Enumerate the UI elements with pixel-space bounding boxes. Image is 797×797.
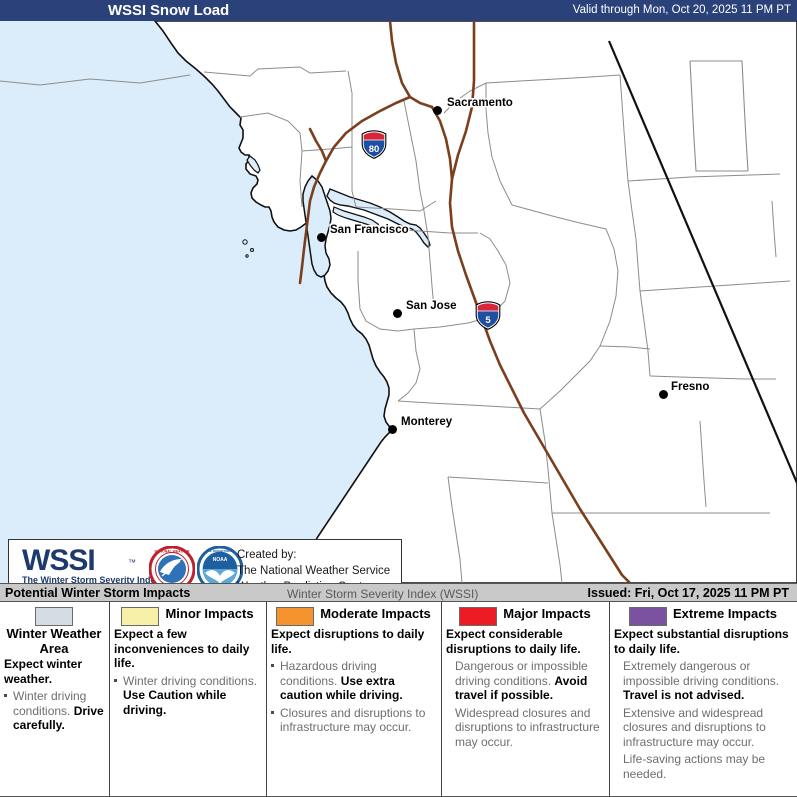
legend-title-major-impacts: Major Impacts bbox=[503, 606, 590, 621]
valid-through-text: Valid through Mon, Oct 20, 2025 11 PM PT bbox=[573, 4, 791, 16]
legend-header bbox=[4, 606, 104, 626]
created-by-block: Created by: The National Weather Service… bbox=[237, 547, 390, 583]
legend-bullets-winter-weather-area: Winter driving conditions. Drive careful… bbox=[4, 689, 104, 733]
legend-lead-winter-weather-area: Expect winter weather. bbox=[4, 657, 104, 686]
created-by-line-2: The National Weather Service bbox=[237, 563, 390, 579]
bullet-dot-icon bbox=[271, 711, 274, 714]
city-label-monterey: Monterey bbox=[401, 416, 452, 428]
wssi-wordmark: WSSI bbox=[22, 544, 95, 578]
nws-seal-icon: NATIONAL WEATHER SERVICE bbox=[149, 546, 195, 583]
legend-lead-major-impacts: Expect considerable disruptions to daily… bbox=[446, 627, 604, 656]
legend-header: Extreme Impacts bbox=[614, 606, 792, 626]
bullet-plain: Widespread closures and disruptions to i… bbox=[455, 706, 600, 749]
legend-bullet: Dangerous or impossible driving conditio… bbox=[446, 659, 604, 703]
legend-header: Moderate Impacts bbox=[271, 606, 436, 626]
svg-text:U.S. DEPARTMENT: U.S. DEPARTMENT bbox=[206, 549, 233, 553]
svg-text:NOAA: NOAA bbox=[213, 557, 228, 563]
index-name-label: Winter Storm Severity Index (WSSI) bbox=[287, 587, 478, 601]
legend-lead-minor-impacts: Expect a few inconveniences to daily lif… bbox=[114, 627, 261, 671]
legend-column-minor-impacts[interactable]: Minor Impacts Expect a few inconvenience… bbox=[110, 602, 267, 796]
wssi-tagline: The Winter Storm Severity Index bbox=[22, 575, 160, 583]
city-dot-fresno bbox=[659, 390, 668, 399]
legend-title-extreme-impacts: Extreme Impacts bbox=[673, 606, 777, 621]
legend-header: Major Impacts bbox=[446, 606, 604, 626]
bullet-dot-icon bbox=[4, 694, 7, 697]
bullet-dot-icon bbox=[114, 679, 117, 682]
svg-text:NATIONAL WEATHER: NATIONAL WEATHER bbox=[154, 550, 190, 554]
legend-header: Minor Impacts bbox=[114, 606, 261, 626]
potential-impacts-title: Potential Winter Storm Impacts bbox=[5, 586, 190, 600]
legend-column-winter-weather-area[interactable]: Winter Weather Area Expect winter weathe… bbox=[0, 602, 110, 796]
interstate-5-shield: 5 bbox=[475, 301, 501, 330]
farallon-island-tiny bbox=[246, 255, 248, 257]
legend-bullet: Closures and disruptions to infrastructu… bbox=[271, 706, 436, 735]
farallon-island-small bbox=[251, 249, 254, 252]
shield-5-number: 5 bbox=[485, 315, 491, 326]
bullet-bold: Use Caution while driving. bbox=[123, 688, 226, 717]
bullet-plain: Winter driving conditions. bbox=[123, 674, 257, 688]
bullet-plain: Closures and disruptions to infrastructu… bbox=[280, 706, 425, 735]
impact-legend: Winter Weather Area Expect winter weathe… bbox=[0, 602, 797, 797]
legend-title-minor-impacts: Minor Impacts bbox=[165, 606, 253, 621]
map-vector-layer bbox=[0, 21, 797, 583]
city-label-san-francisco: San Francisco bbox=[330, 224, 409, 236]
bullet-plain: Extremely dangerous or impossible drivin… bbox=[623, 659, 779, 688]
interstate-80-shield: 80 bbox=[361, 130, 387, 159]
wssi-logo-box: WSSI ™ The Winter Storm Severity Index N bbox=[8, 539, 402, 583]
swatch-major-impacts bbox=[459, 607, 497, 626]
swatch-minor-impacts bbox=[121, 607, 159, 626]
created-by-line-3: Weather Prediction Center bbox=[237, 579, 390, 583]
legend-bullets-extreme-impacts: Extremely dangerous or impossible drivin… bbox=[614, 659, 792, 781]
shield-80-number: 80 bbox=[369, 144, 380, 155]
city-label-san-jose: San Jose bbox=[406, 300, 457, 312]
bullet-plain: Life-saving actions may be needed. bbox=[623, 752, 765, 781]
legend-column-extreme-impacts[interactable]: Extreme Impacts Expect substantial disru… bbox=[610, 602, 797, 796]
city-label-fresno: Fresno bbox=[671, 381, 709, 393]
legend-bullet: Hazardous driving conditions. Use extra … bbox=[271, 659, 436, 703]
legend-title-moderate-impacts: Moderate Impacts bbox=[320, 606, 431, 621]
city-label-sacramento: Sacramento bbox=[447, 97, 513, 109]
city-dot-san-jose bbox=[393, 309, 402, 318]
issued-status-bar: Potential Winter Storm Impacts Winter St… bbox=[0, 583, 797, 602]
app-header: WSSI Snow Load Valid through Mon, Oct 20… bbox=[0, 0, 797, 21]
bullet-bold: Travel is not advised. bbox=[623, 688, 744, 702]
legend-bullet: Extensive and widespread closures and di… bbox=[614, 706, 792, 750]
legend-lead-moderate-impacts: Expect disruptions to daily life. bbox=[271, 627, 436, 656]
farallon-island bbox=[243, 240, 247, 244]
bullet-dot-icon bbox=[271, 664, 274, 667]
legend-column-major-impacts[interactable]: Major Impacts Expect considerable disrup… bbox=[442, 602, 610, 796]
legend-bullets-minor-impacts: Winter driving conditions. Use Caution w… bbox=[114, 674, 261, 718]
swatch-winter-weather-area bbox=[35, 607, 73, 626]
city-dot-monterey bbox=[388, 425, 397, 434]
legend-column-moderate-impacts[interactable]: Moderate Impacts Expect disruptions to d… bbox=[267, 602, 442, 796]
legend-bullet: Winter driving conditions. Use Caution w… bbox=[114, 674, 261, 718]
legend-title-winter-weather-area: Winter Weather Area bbox=[4, 626, 104, 656]
city-dot-sacramento bbox=[433, 106, 442, 115]
legend-bullet: Winter driving conditions. Drive careful… bbox=[4, 689, 104, 733]
legend-bullets-moderate-impacts: Hazardous driving conditions. Use extra … bbox=[271, 659, 436, 735]
issued-timestamp: Issued: Fri, Oct 17, 2025 11 PM PT bbox=[588, 586, 789, 600]
swatch-extreme-impacts bbox=[629, 607, 667, 626]
bullet-plain: Extensive and widespread closures and di… bbox=[623, 706, 766, 749]
legend-bullet: Extremely dangerous or impossible drivin… bbox=[614, 659, 792, 703]
created-by-line-1: Created by: bbox=[237, 547, 390, 563]
legend-bullet: Widespread closures and disruptions to i… bbox=[446, 706, 604, 750]
city-dot-san-francisco bbox=[317, 233, 326, 242]
legend-bullet: Life-saving actions may be needed. bbox=[614, 752, 792, 781]
legend-bullets-major-impacts: Dangerous or impossible driving conditio… bbox=[446, 659, 604, 749]
wssi-snow-load-page: WSSI Snow Load Valid through Mon, Oct 20… bbox=[0, 0, 797, 797]
page-title: WSSI Snow Load bbox=[108, 2, 229, 19]
map-canvas[interactable]: Sacramento San Francisco San Jose Monter… bbox=[0, 21, 797, 583]
legend-lead-extreme-impacts: Expect substantial disruptions to daily … bbox=[614, 627, 792, 656]
trademark-symbol: ™ bbox=[128, 558, 136, 567]
swatch-moderate-impacts bbox=[276, 607, 314, 626]
